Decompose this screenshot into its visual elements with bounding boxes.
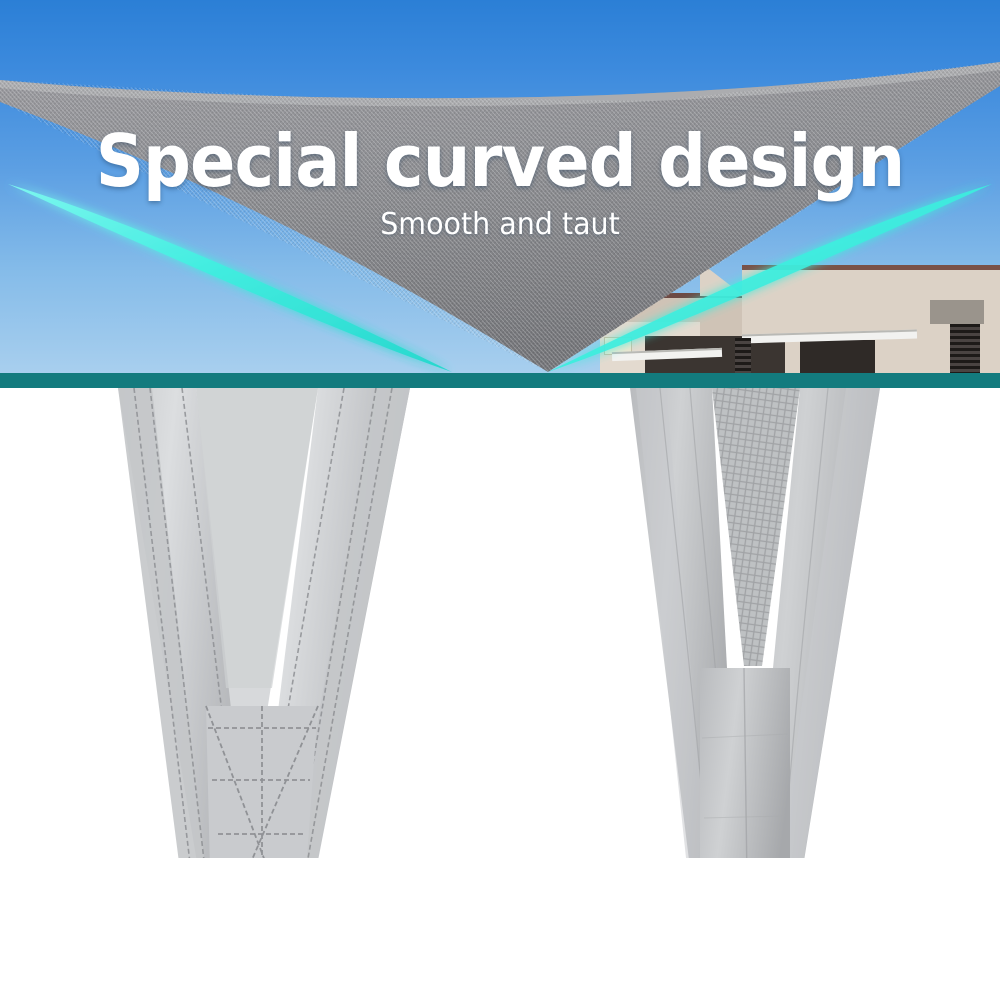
product-comparison-image: Special curved design Smooth and taut <box>0 0 1000 1000</box>
teal-divider-bar <box>0 373 1000 388</box>
page-title: Special curved design <box>35 125 965 197</box>
other-sellers-corner-photo <box>0 388 1000 858</box>
hero-text-block: Special curved design Smooth and taut <box>0 0 1000 373</box>
page-subtitle: Smooth and taut <box>25 210 975 240</box>
hero-panel: Special curved design Smooth and taut <box>0 0 1000 373</box>
comparison-panel: VS Our shade sails · 6mm stainless steel… <box>0 388 1000 1000</box>
vs-label: VS <box>0 993 1000 1000</box>
